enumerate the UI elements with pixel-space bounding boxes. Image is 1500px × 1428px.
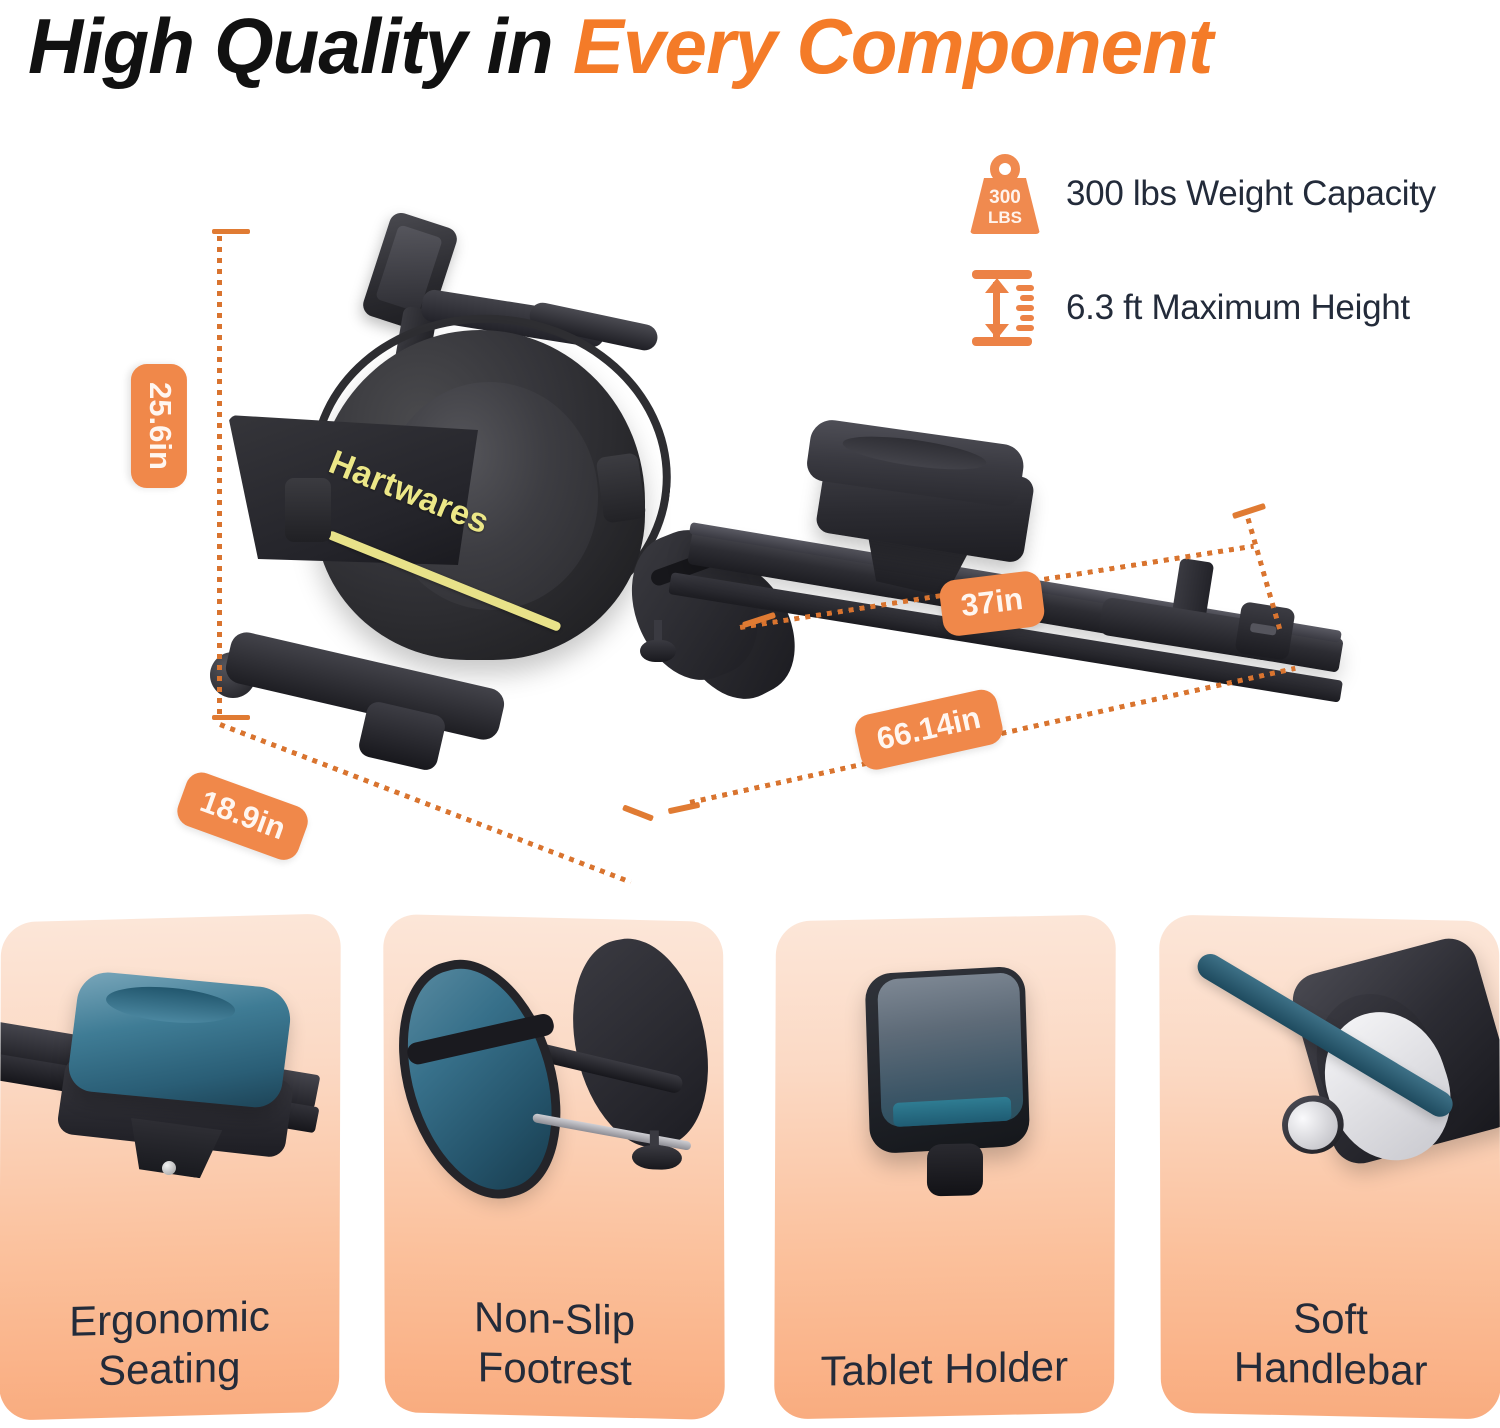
feature-card-ergonomic-seating[interactable]: Ergonomic Seating — [0, 913, 341, 1421]
feature-card-label: Tablet Holder — [774, 1340, 1114, 1397]
stabilizer-foot — [640, 640, 676, 662]
feature-card-non-slip-footrest[interactable]: Non-Slip Footrest — [383, 914, 725, 1420]
footrest-pedal-rim-shape — [383, 943, 586, 1216]
non-slip-footrest-image — [383, 914, 724, 1252]
feature-card-label: Soft Handlebar — [1160, 1290, 1500, 1397]
product-infographic: High Quality in Every Component 300 LBS … — [0, 0, 1500, 1428]
rear-foot-detail — [1250, 623, 1277, 636]
resistance-knob — [596, 452, 647, 523]
soft-handlebar-image — [1159, 914, 1500, 1251]
side-knob — [285, 478, 331, 542]
page-title-part1: High Quality in — [28, 2, 573, 90]
rowing-machine-illustration: Hartwares — [170, 200, 1330, 860]
rear-foot-cap — [1234, 601, 1295, 661]
height-dim-top-cap — [212, 229, 250, 234]
feature-card-label: Non-Slip Footrest — [384, 1290, 724, 1398]
page-title: High Quality in Every Component — [28, 0, 1459, 94]
ergonomic-seating-image — [0, 913, 341, 1253]
tablet-holder-clip-shape — [927, 1143, 983, 1196]
tablet-holder-image — [775, 914, 1116, 1251]
height-dim-dotted-line — [217, 236, 222, 716]
footrest-stabilizer-foot-shape — [632, 1145, 682, 1170]
feature-card-label: Ergonomic Seating — [0, 1289, 339, 1399]
feature-card-tablet-holder[interactable]: Tablet Holder — [774, 914, 1116, 1419]
feature-card-row: Ergonomic Seating Non-Slip Footrest — [0, 918, 1500, 1428]
height-dim-bottom-cap — [212, 715, 250, 720]
page-title-part2: Every Component — [573, 2, 1212, 90]
feature-card-soft-handlebar[interactable]: Soft Handlebar — [1159, 914, 1500, 1419]
dimension-badge-height: 25.6in — [131, 364, 187, 488]
